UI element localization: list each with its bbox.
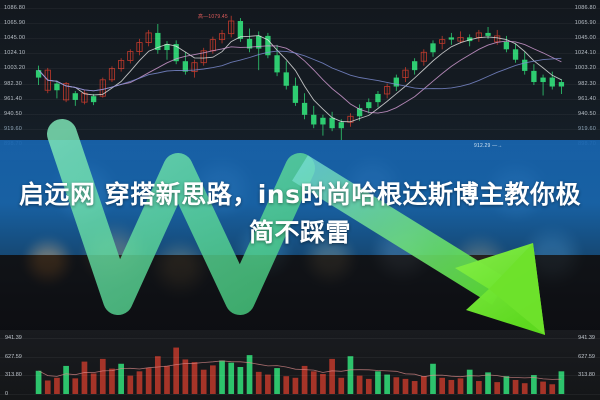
price-tick-label: 1003.20 xyxy=(4,65,25,71)
volume-tick-label: 627.59 xyxy=(578,354,595,360)
gridline xyxy=(0,338,600,339)
price-tick-label: 1065.90 xyxy=(575,20,596,26)
volume-bars-chart xyxy=(0,330,600,400)
headline-line-1: 启远网 穿搭新思路，ins时尚哈根达斯博主教你极 xyxy=(0,176,600,214)
headline-overlay: 启远网 穿搭新思路，ins时尚哈根达斯博主教你极 简不踩雷 xyxy=(0,176,600,252)
gridline xyxy=(0,38,600,39)
gridline xyxy=(0,68,600,69)
price-tick-label: 982.30 xyxy=(578,81,596,87)
price-tick-label: 1045.00 xyxy=(575,35,596,41)
gridline xyxy=(0,394,600,395)
price-tick-label: 1003.20 xyxy=(575,65,596,71)
price-tick-label: 1024.10 xyxy=(575,50,596,56)
price-tick-label: 940.50 xyxy=(578,111,596,117)
gridline xyxy=(0,129,600,130)
price-tick-label: 1086.80 xyxy=(575,5,596,11)
headline-line-2: 简不踩雷 xyxy=(0,214,600,252)
volume-chart-panel: 941.39627.59313.800 941.39627.59313.80 xyxy=(0,330,600,400)
volume-tick-label: 313.80 xyxy=(578,372,595,378)
gridline xyxy=(0,53,600,54)
screenshot-root: 1086.801065.901045.001024.101003.20982.3… xyxy=(0,0,600,400)
volume-tick-label: 313.80 xyxy=(5,372,22,378)
price-tick-label: 1024.10 xyxy=(4,50,25,56)
price-tick-label: 919.60 xyxy=(578,126,596,132)
price-tick-label: 1065.90 xyxy=(4,20,25,26)
price-tick-label: 1086.80 xyxy=(4,5,25,11)
price-chart-panel: 1086.801065.901045.001024.101003.20982.3… xyxy=(0,0,600,160)
gridline xyxy=(0,357,600,358)
gridline xyxy=(0,99,600,100)
price-tick-label: 1045.00 xyxy=(4,35,25,41)
gridline xyxy=(0,84,600,85)
volume-tick-label: 941.39 xyxy=(578,335,595,341)
price-tick-label: 982.30 xyxy=(4,81,22,87)
volume-tick-label: 627.59 xyxy=(5,354,22,360)
gridline xyxy=(0,23,600,24)
price-tick-label: 961.40 xyxy=(578,96,596,102)
low-price-annotation: 912.29 —→ xyxy=(474,143,502,149)
price-tick-label: 940.50 xyxy=(4,111,22,117)
gridline xyxy=(0,375,600,376)
high-price-annotation: 高—1079.45 xyxy=(198,13,228,20)
volume-tick-label: 0 xyxy=(5,391,8,397)
gridline xyxy=(0,8,600,9)
price-tick-label: 919.60 xyxy=(4,126,22,132)
price-tick-label: 961.40 xyxy=(4,96,22,102)
gridline xyxy=(0,114,600,115)
volume-tick-label: 941.39 xyxy=(5,335,22,341)
